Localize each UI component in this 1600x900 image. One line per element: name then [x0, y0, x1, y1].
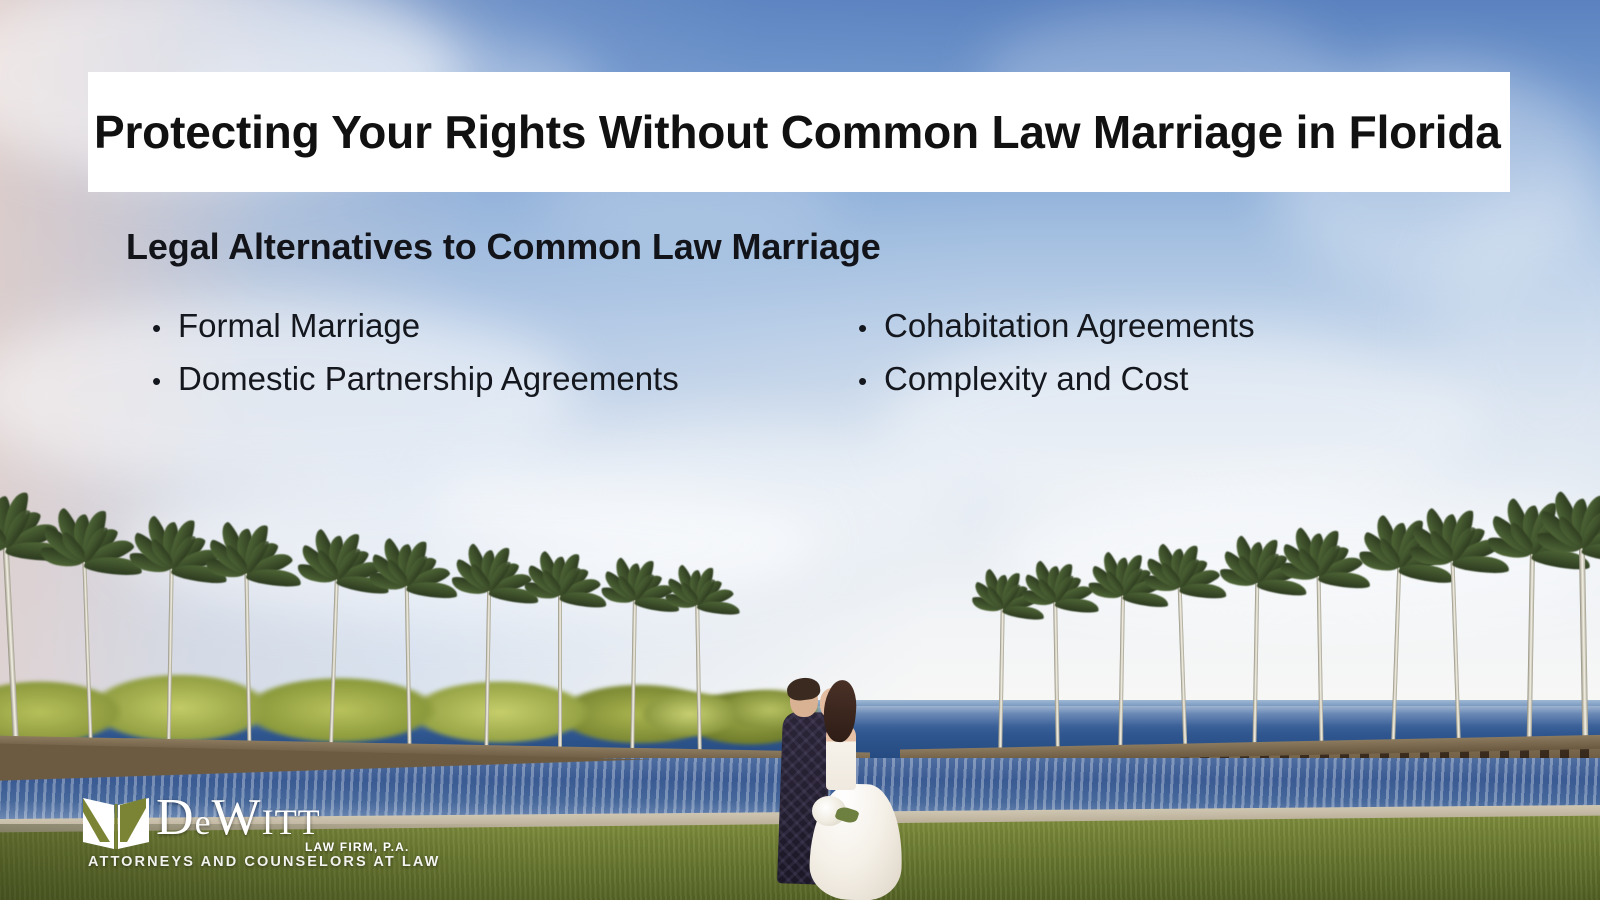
logo-w: W	[212, 789, 262, 846]
palm-trunk	[695, 601, 701, 764]
palm-trunk	[630, 596, 637, 766]
palm-tree	[970, 586, 1033, 763]
palm-tree	[376, 558, 440, 773]
bullet-icon: •	[858, 315, 884, 341]
palm-tree	[1149, 561, 1216, 769]
list-item: •Complexity and Cost	[858, 361, 1255, 398]
palm-trunk	[1118, 590, 1125, 766]
logo-wordmark: DeWITT	[156, 790, 321, 850]
palm-trunk	[1178, 583, 1188, 768]
list-item: •Cohabitation Agreements	[858, 308, 1255, 345]
logo-d: D	[156, 789, 195, 846]
palm-tree	[530, 570, 590, 768]
logo[interactable]: DeWITT LAW FIRM, P.A. ATTORNEYS AND COUN…	[80, 792, 410, 868]
slide: Protecting Your Rights Without Common La…	[0, 0, 1600, 900]
palm-tree	[1025, 578, 1088, 765]
list-item-label: Formal Marriage	[178, 308, 420, 345]
logo-itt: ITT	[262, 802, 321, 842]
open-book-icon	[80, 792, 154, 852]
palm-tree	[456, 564, 520, 771]
list-item: •Formal Marriage	[152, 308, 679, 345]
page-title: Protecting Your Rights Without Common La…	[88, 105, 1501, 159]
list-item: •Domestic Partnership Agreements	[152, 361, 679, 398]
palm-tree	[1288, 548, 1352, 773]
list-item-label: Cohabitation Agreements	[884, 308, 1255, 345]
palm-trunk	[484, 586, 491, 770]
bullet-icon: •	[152, 368, 178, 394]
list-item-label: Domestic Partnership Agreements	[178, 361, 679, 398]
logo-firm-line: LAW FIRM, P.A.	[305, 840, 410, 854]
bullet-icon: •	[858, 368, 884, 394]
logo-e: e	[195, 802, 212, 842]
palm-tree	[602, 576, 665, 767]
bullet-list-left: •Formal Marriage•Domestic Partnership Ag…	[152, 308, 679, 414]
palm-tree	[1090, 570, 1153, 767]
wedding-couple	[770, 668, 920, 900]
palm-trunk	[998, 604, 1004, 762]
logo-tagline: ATTORNEYS AND COUNSELORS AT LAW	[88, 854, 440, 870]
palm-trunk	[1053, 597, 1060, 764]
bullet-icon: •	[152, 315, 178, 341]
palm-trunk	[558, 591, 562, 768]
palm-tree	[1224, 556, 1288, 771]
bullet-list-right: •Cohabitation Agreements•Complexity and …	[858, 308, 1255, 414]
title-banner: Protecting Your Rights Without Common La…	[88, 72, 1510, 192]
list-item-label: Complexity and Cost	[884, 361, 1188, 398]
section-subtitle: Legal Alternatives to Common Law Marriag…	[126, 226, 881, 268]
palm-tree	[667, 582, 730, 765]
